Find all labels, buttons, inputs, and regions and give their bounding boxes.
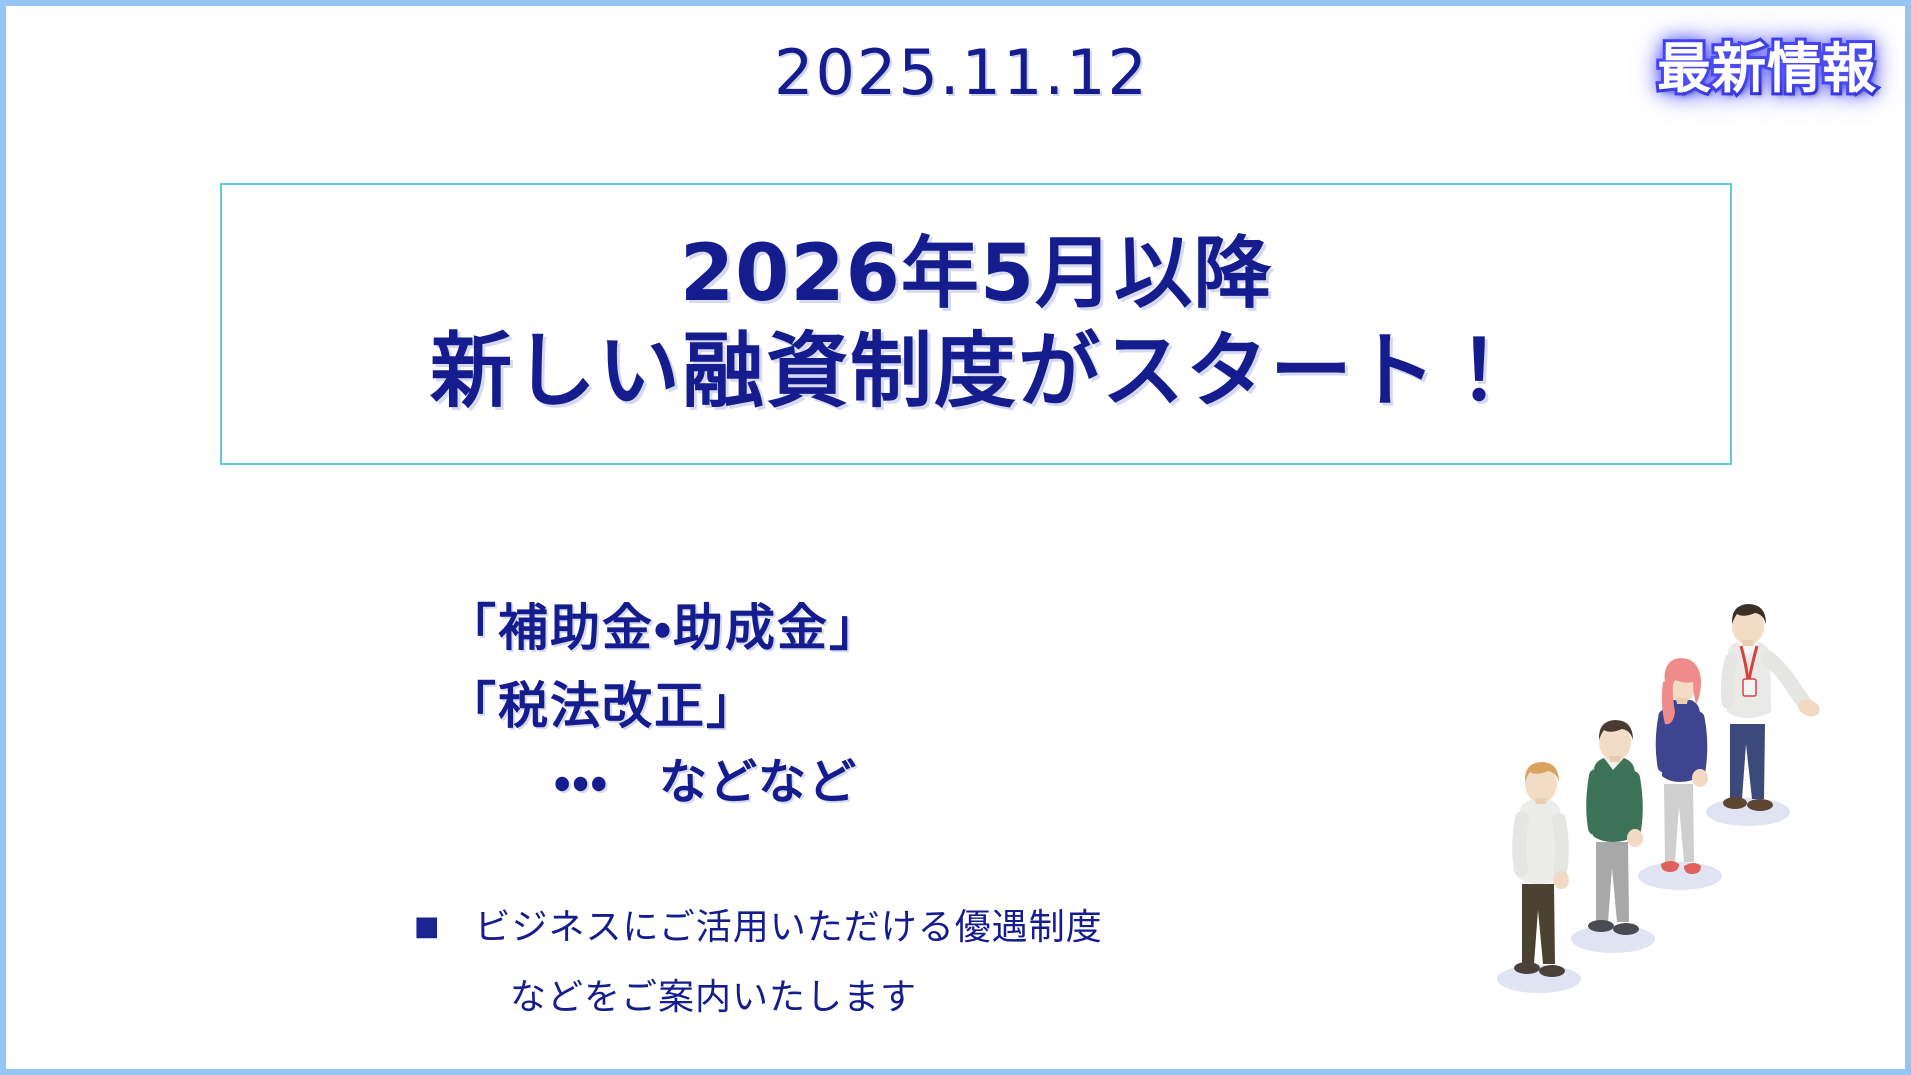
people-queue-svg [1465,584,1825,1014]
bullet-text-primary: ビジネスにご活用いただける優遇制度 [475,906,1103,950]
slide-canvas: 2025.11.12 最新情報 2026年5月以降 新しい融資制度がスタート！ … [0,0,1911,1075]
person-staff-guide [1723,604,1822,811]
latest-info-badge: 最新情報 [1647,36,1887,102]
person-woman-customer [1661,658,1708,874]
highlight-item-taxreform: 「税法改正」 [446,667,1446,745]
highlight-item-etc: ・・・ などなど [446,745,1446,820]
slide-date: 2025.11.12 [6,42,1911,104]
title-line-1: 2026年5月以降 [680,232,1272,316]
bullet-list: ■ ビジネスにご活用いただける優遇制度 などをご案内いたします [414,906,1464,1020]
bullet-text-secondary: などをご案内いたします [510,976,1464,1020]
person-man-green-sweater [1588,720,1643,935]
highlight-item-subsidy: 「補助金・助成金」 [446,589,1446,667]
square-bullet-icon: ■ [414,906,441,948]
bullet-row: ■ ビジネスにご活用いただける優遇制度 [414,906,1464,950]
person-man-white-shirt [1514,762,1569,977]
people-queue-illustration [1465,584,1825,1014]
highlight-list: 「補助金・助成金」 「税法改正」 ・・・ などなど [446,589,1446,820]
title-frame: 2026年5月以降 新しい融資制度がスタート！ [220,183,1732,465]
title-line-2: 新しい融資制度がスタート！ [430,328,1522,417]
